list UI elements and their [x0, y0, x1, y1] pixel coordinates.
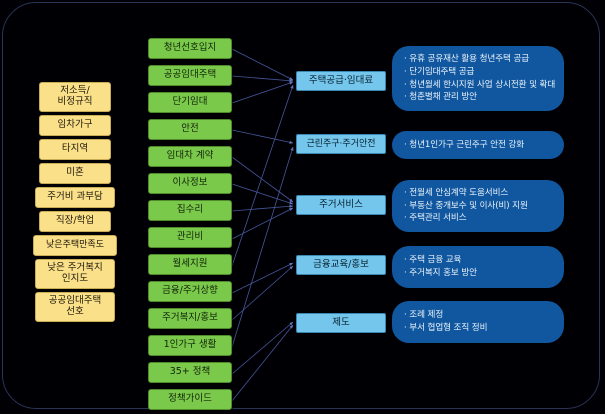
topic-box-safety[interactable]: 안전 [148, 119, 232, 140]
need-box-other-region[interactable]: 타지역 [39, 139, 111, 160]
need-box-low-income[interactable]: 저소득/ 비정규직 [39, 82, 111, 112]
topic-box-housing-welfare-pr[interactable]: 주거복지/홍보 [148, 308, 232, 329]
category-box-housing-service[interactable]: 주거서비스 [296, 195, 386, 215]
topic-box-youth-preferred-location[interactable]: 청년선호입지 [148, 38, 232, 59]
policy-bullet: · 유휴 공유재산 활용 청년주택 공급 [404, 53, 554, 66]
need-box-public-rental-preference[interactable]: 공공임대주택 선호 [35, 292, 115, 322]
policy-panel-institution[interactable]: · 조례 제정 · 부서 협업형 조직 정비 [392, 301, 564, 343]
diagram-canvas: 저소득/ 비정규직 임차가구 타지역 미혼 주거비 과부담 직장/학업 낮은주택… [0, 0, 605, 414]
policy-bullet: · 전월세 안심계약 도움서비스 [404, 187, 554, 200]
topic-box-policy-guide[interactable]: 정책가이드 [148, 389, 232, 410]
topic-box-monthly-rent-support[interactable]: 월세지원 [148, 254, 232, 275]
need-box-work-study[interactable]: 직장/학업 [39, 211, 111, 232]
topic-box-lease-contract[interactable]: 임대차 계약 [148, 146, 232, 167]
policy-bullet: · 청년월세 한시지원 사업 상시전환 및 확대 [404, 79, 554, 92]
topic-box-maintenance-fee[interactable]: 관리비 [148, 227, 232, 248]
policy-panel-housing-service[interactable]: · 전월세 안심계약 도움서비스 · 부동산 중개보수 및 이사(비) 지원 ·… [392, 180, 564, 232]
policy-panel-housing-supply[interactable]: · 유휴 공유재산 활용 청년주택 공급 · 단기임대주택 공급 · 청년월세 … [392, 46, 564, 111]
policy-bullet: · 주택관리 서비스 [404, 212, 554, 225]
topic-box-short-term-rental[interactable]: 단기임대 [148, 92, 232, 113]
category-box-neighborhood-safety[interactable]: 근린주구·주거안전 [296, 134, 386, 154]
policy-bullet: · 청년1인가구 근린주구 안전 강화 [404, 139, 554, 152]
policy-bullet: · 청춘별채 관리 방안 [404, 91, 554, 104]
need-box-low-housing-satisfaction[interactable]: 낮은주택만족도 [33, 235, 117, 256]
policy-bullet: · 부서 협업형 조직 정비 [404, 322, 554, 335]
need-box-housing-cost-burden[interactable]: 주거비 과부담 [35, 187, 115, 208]
policy-bullet: · 부동산 중개보수 및 이사(비) 지원 [404, 200, 554, 213]
need-box-unmarried[interactable]: 미혼 [39, 163, 111, 184]
topic-box-35plus-policy[interactable]: 35+ 정책 [148, 362, 232, 383]
category-box-finance-education[interactable]: 금융교육/홍보 [296, 255, 386, 275]
need-box-low-welfare-awareness[interactable]: 낮은 주거복지 인지도 [35, 259, 115, 289]
policy-bullet: · 주택 금융 교육 [404, 254, 554, 267]
policy-bullet: · 조례 제정 [404, 309, 554, 322]
policy-panel-finance-education[interactable]: · 주택 금융 교육 · 주거복지 홍보 방안 [392, 246, 564, 288]
policy-bullet: · 주거복지 홍보 방안 [404, 267, 554, 280]
category-box-institution[interactable]: 제도 [296, 313, 386, 333]
topic-box-finance-housing-upgrade[interactable]: 금융/주거상향 [148, 281, 232, 302]
topic-box-home-repair[interactable]: 집수리 [148, 200, 232, 221]
topic-box-moving-info[interactable]: 이사정보 [148, 173, 232, 194]
need-box-rental-household[interactable]: 임차가구 [39, 115, 111, 136]
policy-panel-neighborhood-safety[interactable]: · 청년1인가구 근린주구 안전 강화 [392, 131, 564, 159]
policy-bullet: · 단기임대주택 공급 [404, 66, 554, 79]
category-box-housing-supply[interactable]: 주택공급·임대료 [296, 71, 386, 91]
topic-box-public-rental-housing[interactable]: 공공임대주택 [148, 65, 232, 86]
topic-box-single-household-life[interactable]: 1인가구 생활 [148, 335, 232, 356]
